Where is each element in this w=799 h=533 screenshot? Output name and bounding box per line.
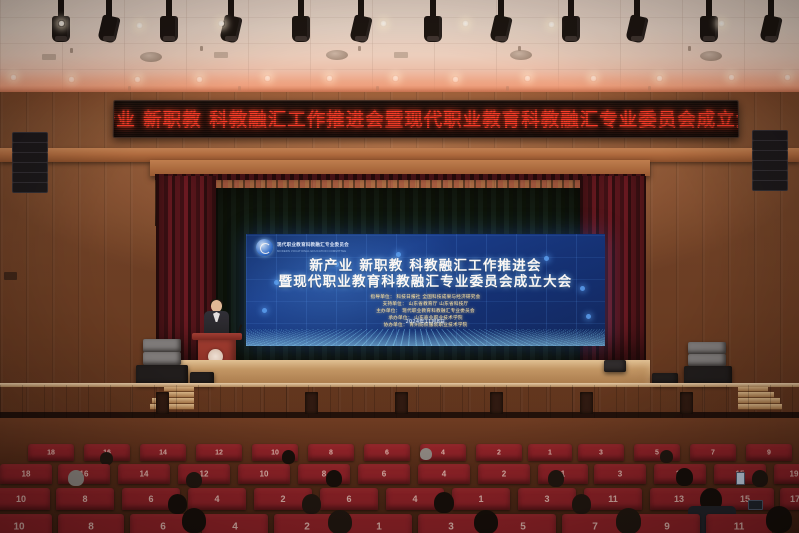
stage-spotlight [222,0,240,42]
auditorium-photo: 新产业 新职教 科教融汇工作推进会暨现代职业教育科教融汇专业委员会成立大会 现代… [0,0,799,533]
logo-emblem-icon [256,239,273,256]
ceiling-vent [42,54,56,60]
sprinkler [518,46,521,51]
seat[interactable]: 16 [58,464,110,484]
seat-number: 3 [594,470,646,479]
seat[interactable]: 19 [774,464,799,484]
seat-number: 9 [634,522,700,533]
audience-head [326,470,342,487]
seat-number: 17 [780,494,799,504]
ceiling-downlight [136,22,143,29]
seat-number: 11 [584,494,642,504]
logo-title-cn: 现代职业教育科教融汇专业委员会 [277,242,349,248]
screen-bottom-glow [246,330,605,346]
smartphone-screen [736,472,745,485]
wall-line-array-speaker-left [12,132,46,194]
seat-number: 11 [706,522,772,533]
stage-spotlight [292,0,310,42]
seat-number: 10 [0,494,50,504]
stage-spotlight [100,0,118,42]
seat-number: 5 [634,449,680,456]
seat[interactable]: 11 [706,514,772,533]
audience-head [434,492,454,513]
audience-head [572,494,591,514]
seat[interactable]: 1 [346,514,412,533]
audience-head [616,508,641,533]
seat-number: 6 [358,470,410,479]
audience-head [186,472,202,488]
seat[interactable]: 5 [634,444,680,461]
audience-head [676,468,693,486]
stage-vent-panel [490,392,503,414]
stage-monitor-speaker-left [143,339,181,352]
stage-spotlight [424,0,442,42]
seat-number: 1 [528,449,572,456]
seat[interactable]: 4 [418,464,470,484]
organizer-line: 指导单位： 科技日报社 全国科技成果与经济研究会 [371,294,481,300]
stage-led-screen: 现代职业教育科教融汇专业委员会 MODERN VOCATIONAL EDUCAT… [246,234,605,346]
audience-head [752,470,768,487]
stage-spotlight [700,0,718,42]
seat-number: 2 [478,470,530,479]
seat[interactable]: 14 [118,464,170,484]
seat-number: 19 [774,470,799,479]
stage-spotlight [762,0,780,42]
ceiling-vent [214,52,228,58]
stage-monitor-speaker-left [143,352,181,365]
seat[interactable]: 18 [28,444,74,461]
stage-monitor-speaker-right [688,354,726,366]
seat[interactable]: 2 [478,464,530,484]
sprinkler [358,46,361,51]
seat-number: 1 [452,494,510,504]
seat[interactable]: 1 [528,444,572,461]
seat[interactable]: 3 [594,464,646,484]
stage-spotlight [628,0,646,42]
seat-number: 1 [346,522,412,533]
seat-number: 5 [490,522,556,533]
seat-number: 18 [0,470,52,479]
seat[interactable]: 2 [476,444,522,461]
ceiling-speaker [140,52,162,62]
seat-number: 8 [56,494,114,504]
seat[interactable]: 10 [0,488,50,510]
ceiling [0,0,799,96]
ceiling-downlight [718,20,725,27]
stage-vent-panel [395,392,408,414]
equipment-case-right [604,360,626,372]
seat-number: 16 [58,470,110,479]
audience-head [282,450,295,464]
seat-number: 10 [238,470,290,479]
seat-number: 18 [28,449,74,456]
seat-number: 4 [418,470,470,479]
seat-number: 14 [118,470,170,479]
seat-number: 8 [58,522,124,533]
committee-logo: 现代职业教育科教融汇专业委员会 MODERN VOCATIONAL EDUCAT… [256,239,349,256]
seat-number: 4 [202,522,268,533]
audience-head [548,470,564,487]
screen-title-block: 新产业 新职教 科教融汇工作推进会 暨现代职业教育科教融汇专业委员会成立大会 [246,258,605,290]
seat-number: 10 [0,522,52,533]
podium-top [192,333,242,340]
seat[interactable]: 8 [56,488,114,510]
audience-head [68,470,84,486]
ceiling-downlight [380,20,387,27]
seat[interactable]: 9 [746,444,792,461]
seat-number: 9 [746,449,792,456]
seat[interactable]: 12 [196,444,242,461]
seat[interactable]: 8 [58,514,124,533]
ceiling-downlight [462,20,469,27]
audience-head [182,508,206,533]
seat[interactable]: 18 [0,464,52,484]
seat[interactable]: 7 [690,444,736,461]
seat[interactable]: 8 [298,464,350,484]
seat[interactable]: 4 [188,488,246,510]
seat-number: 6 [364,449,410,456]
stage-vent-panel [305,392,318,414]
seat-number: 7 [690,449,736,456]
stage-monitor-speaker-right [688,342,726,354]
wall-control-panel-left [4,272,17,280]
ceiling-vent [394,52,408,58]
subwoofer-left [136,365,188,385]
led-banner: 新产业 新职教 科教融汇工作推进会暨现代职业教育科教融汇专业委员会成立大会 [113,100,740,138]
ceiling-speaker [510,50,532,60]
seat-number: 4 [188,494,246,504]
audience-head [328,510,352,533]
screen-title-line1: 新产业 新职教 科教融汇工作推进会 [246,258,605,274]
ceiling-speaker [700,51,722,61]
stage-vent-panel [156,392,169,414]
ceiling-downlight [58,20,65,27]
ceiling-speaker [326,50,348,60]
seat[interactable]: 9 [634,514,700,533]
smartphone [748,500,763,510]
seat-number: 14 [140,449,186,456]
seat-number: 8 [298,470,350,479]
speaker-at-podium [200,300,232,336]
stage-spotlight [492,0,510,42]
seat[interactable]: 11 [584,488,642,510]
audience-head [302,494,321,514]
seat-number: 3 [518,494,576,504]
seat[interactable]: 1 [452,488,510,510]
seat[interactable]: 4 [202,514,268,533]
stage-vent-panel [680,392,693,414]
stage-spotlight [562,0,580,42]
ceiling-downlight [548,21,555,28]
stage-vent-panel [580,392,593,414]
seat[interactable]: 6 [358,464,410,484]
seat[interactable]: 3 [578,444,624,461]
seat-number: 15 [716,494,774,504]
seat-number: 3 [578,449,624,456]
ceiling-downlight [218,20,225,27]
audience-head [474,510,498,533]
seat[interactable]: 10 [0,514,52,533]
sprinkler [688,46,691,51]
stage-spotlight [352,0,370,42]
screen-title-line2: 暨现代职业教育科教融汇专业委员会成立大会 [246,274,605,290]
led-banner-text: 新产业 新职教 科教融汇工作推进会暨现代职业教育科教融汇专业委员会成立大会 [113,106,740,132]
logo-subtitle-en: MODERN VOCATIONAL EDUCATION COMMITTEE [277,249,349,253]
stage-spotlight [160,0,178,42]
seat-number: 8 [308,449,354,456]
audience-head [660,450,673,463]
seat-number: 12 [196,449,242,456]
screen-node-dot [396,252,401,257]
sprinkler [70,48,73,53]
seat[interactable]: 10 [238,464,290,484]
seat[interactable]: 14 [140,444,186,461]
sprinkler [200,46,203,51]
seat[interactable]: 5 [490,514,556,533]
audience-head [168,494,187,514]
seat[interactable]: 8 [308,444,354,461]
seat-number: 6 [320,494,378,504]
seat[interactable]: 3 [518,488,576,510]
wall-line-array-speaker-right [752,130,786,192]
seat[interactable]: 6 [364,444,410,461]
audience-head [766,506,792,533]
seat-number: 2 [476,449,522,456]
seat[interactable]: 6 [320,488,378,510]
audience-head [420,448,432,460]
